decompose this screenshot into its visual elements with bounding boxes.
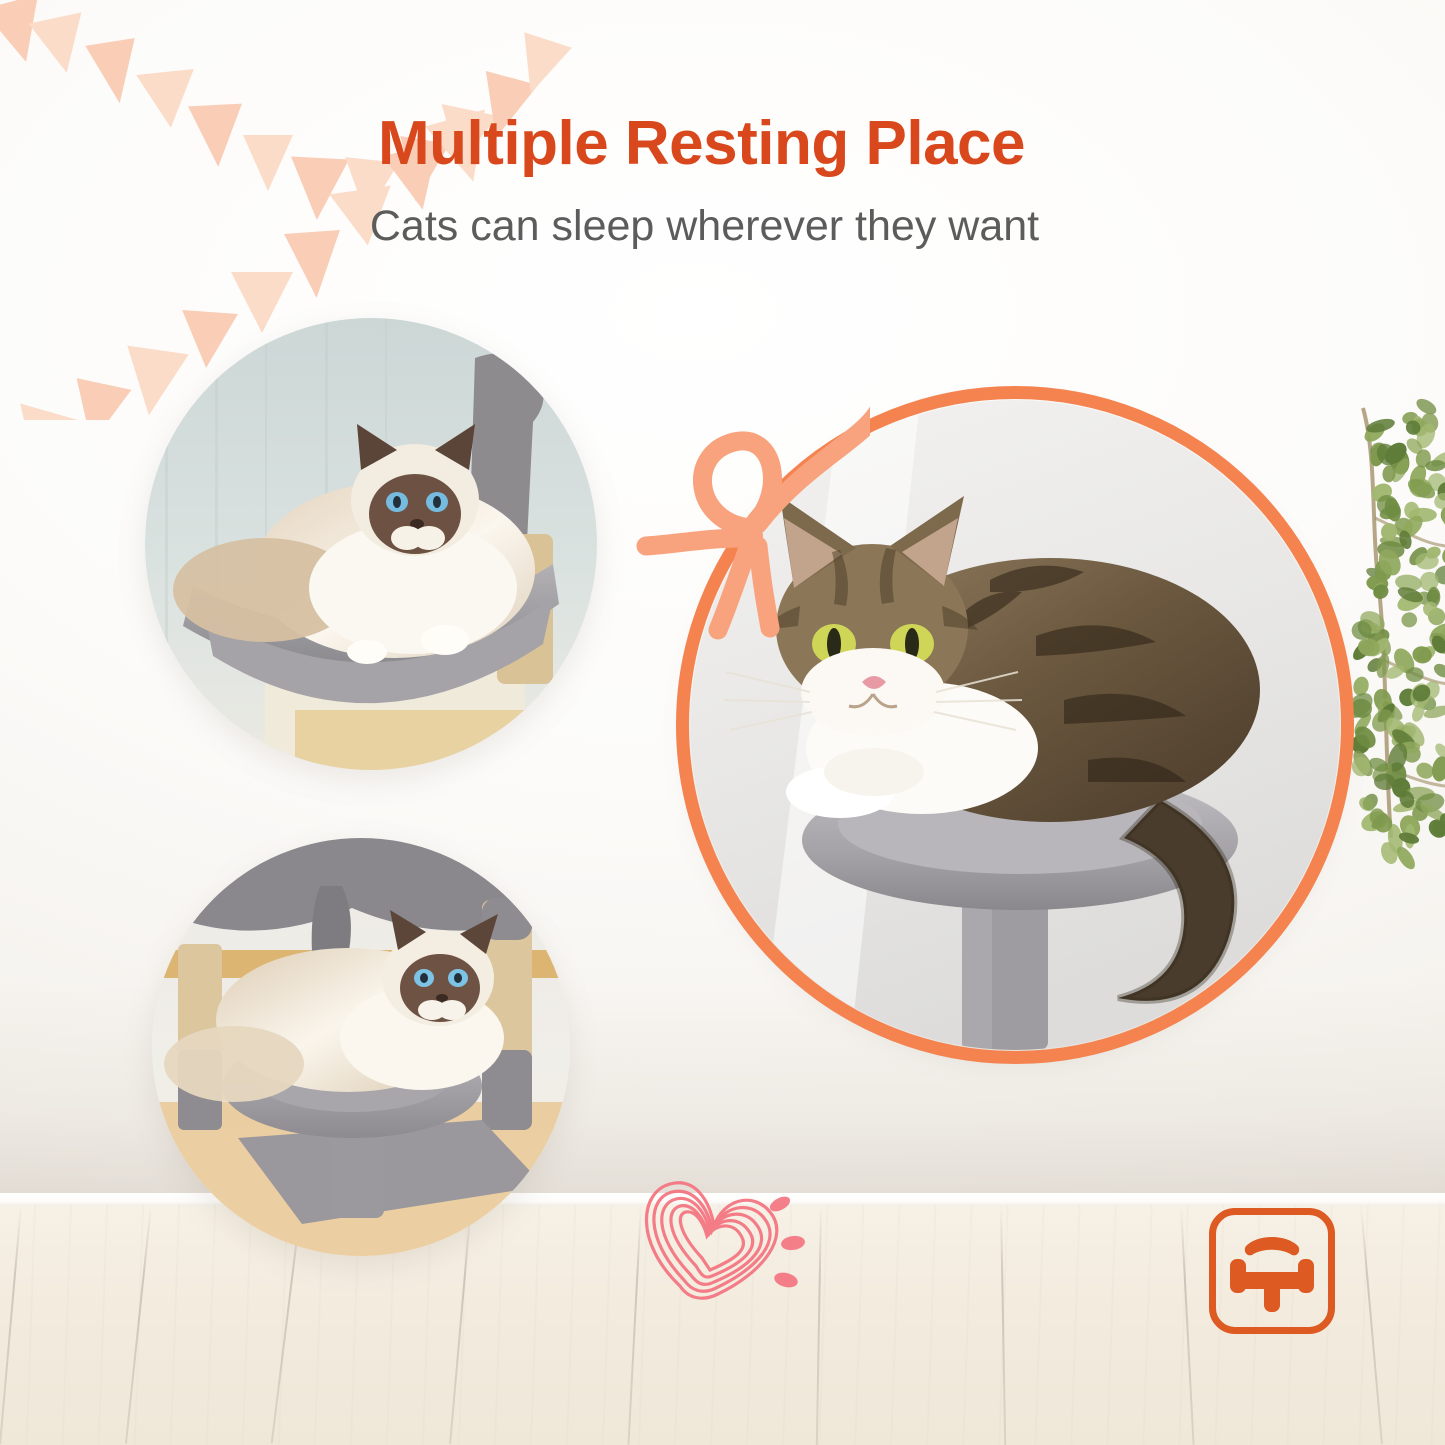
plant-leaf: [1439, 544, 1445, 567]
bunting-triangle: [5, 403, 80, 420]
ribbon-bow-icon: [630, 398, 870, 648]
cat-tree-icon: [1216, 1215, 1328, 1327]
page-subtitle: Cats can sleep wherever they want: [0, 203, 1445, 250]
plant-leaf: [1430, 755, 1445, 783]
bunting-triangle: [178, 310, 238, 370]
plant-leaf: [1400, 611, 1419, 629]
bunting-triangle: [85, 38, 144, 107]
photo-ragdoll-cat-in-round-bed: [152, 838, 570, 1256]
bunting-triangle: [118, 346, 189, 420]
heart-dash: [780, 1234, 806, 1251]
heart-doodle-icon: [618, 1168, 818, 1333]
bunting-triangle: [231, 272, 293, 333]
heart-dash: [773, 1270, 800, 1289]
page-title: Multiple Resting Place: [0, 111, 1445, 176]
hammock-photo-illustration: [145, 318, 597, 770]
bunting-triangle: [29, 12, 93, 78]
round-bed-photo-illustration: [152, 838, 570, 1256]
poster-canvas: Multiple Resting Place Cats can sleep wh…: [0, 0, 1445, 1445]
plant-leaf: [1431, 661, 1445, 680]
cat-tree-brand-logo: [1209, 1208, 1335, 1334]
bunting-triangle: [64, 378, 131, 420]
photo-ragdoll-cat-in-hammock: [145, 318, 597, 770]
